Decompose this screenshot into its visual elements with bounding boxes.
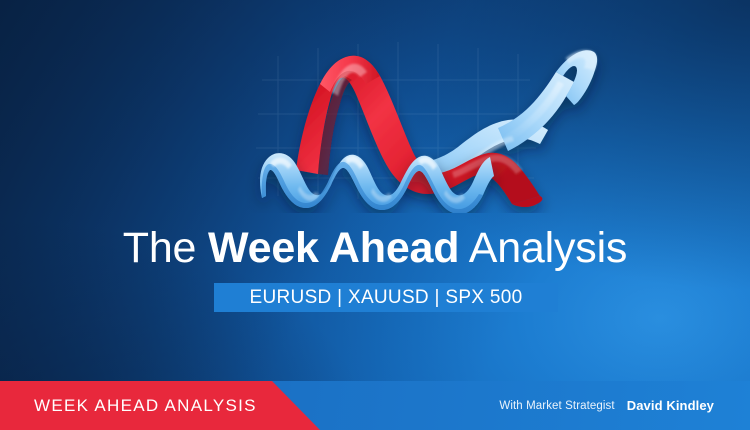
title-emphasis: Week Ahead <box>208 224 459 272</box>
presenter-name: David Kindley <box>627 398 714 413</box>
hero-graphic <box>0 18 750 213</box>
title-prefix: The <box>123 224 208 272</box>
presenter-credit: With Market Strategist David Kindley <box>499 381 714 430</box>
footer-banner-label: WEEK AHEAD ANALYSIS <box>34 381 257 430</box>
footer-bar: WEEK AHEAD ANALYSIS With Market Strategi… <box>0 381 750 430</box>
page-title: The Week Ahead Analysis <box>0 222 750 274</box>
week-ahead-analysis-banner: The Week Ahead Analysis EURUSD | XAUUSD … <box>0 0 750 430</box>
instruments-badge-label: EURUSD | XAUUSD | SPX 500 <box>250 287 523 309</box>
instruments-badge: EURUSD | XAUUSD | SPX 500 <box>214 283 558 312</box>
presenter-role-label: With Market Strategist <box>499 400 614 412</box>
title-suffix: Analysis <box>459 224 627 272</box>
